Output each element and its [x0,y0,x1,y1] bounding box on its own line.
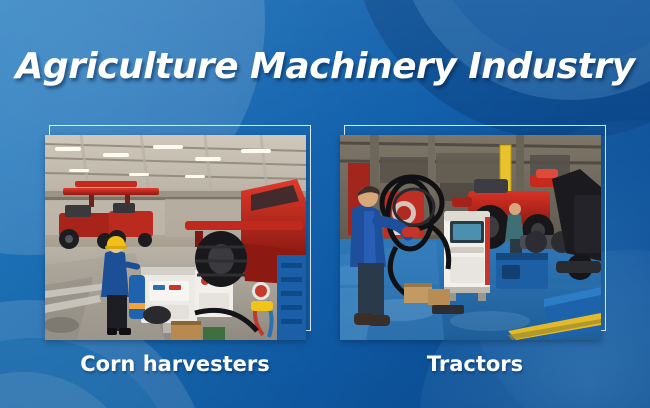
caption-tractors: Tractors [320,352,630,376]
card-gallery: Corn harvesters [0,0,650,408]
banner-root: Agriculture Machinery Industry [0,0,650,408]
photo-corn-harvesters [45,135,306,340]
photo-tractors [340,135,601,340]
caption-corn-harvesters: Corn harvesters [20,352,330,376]
